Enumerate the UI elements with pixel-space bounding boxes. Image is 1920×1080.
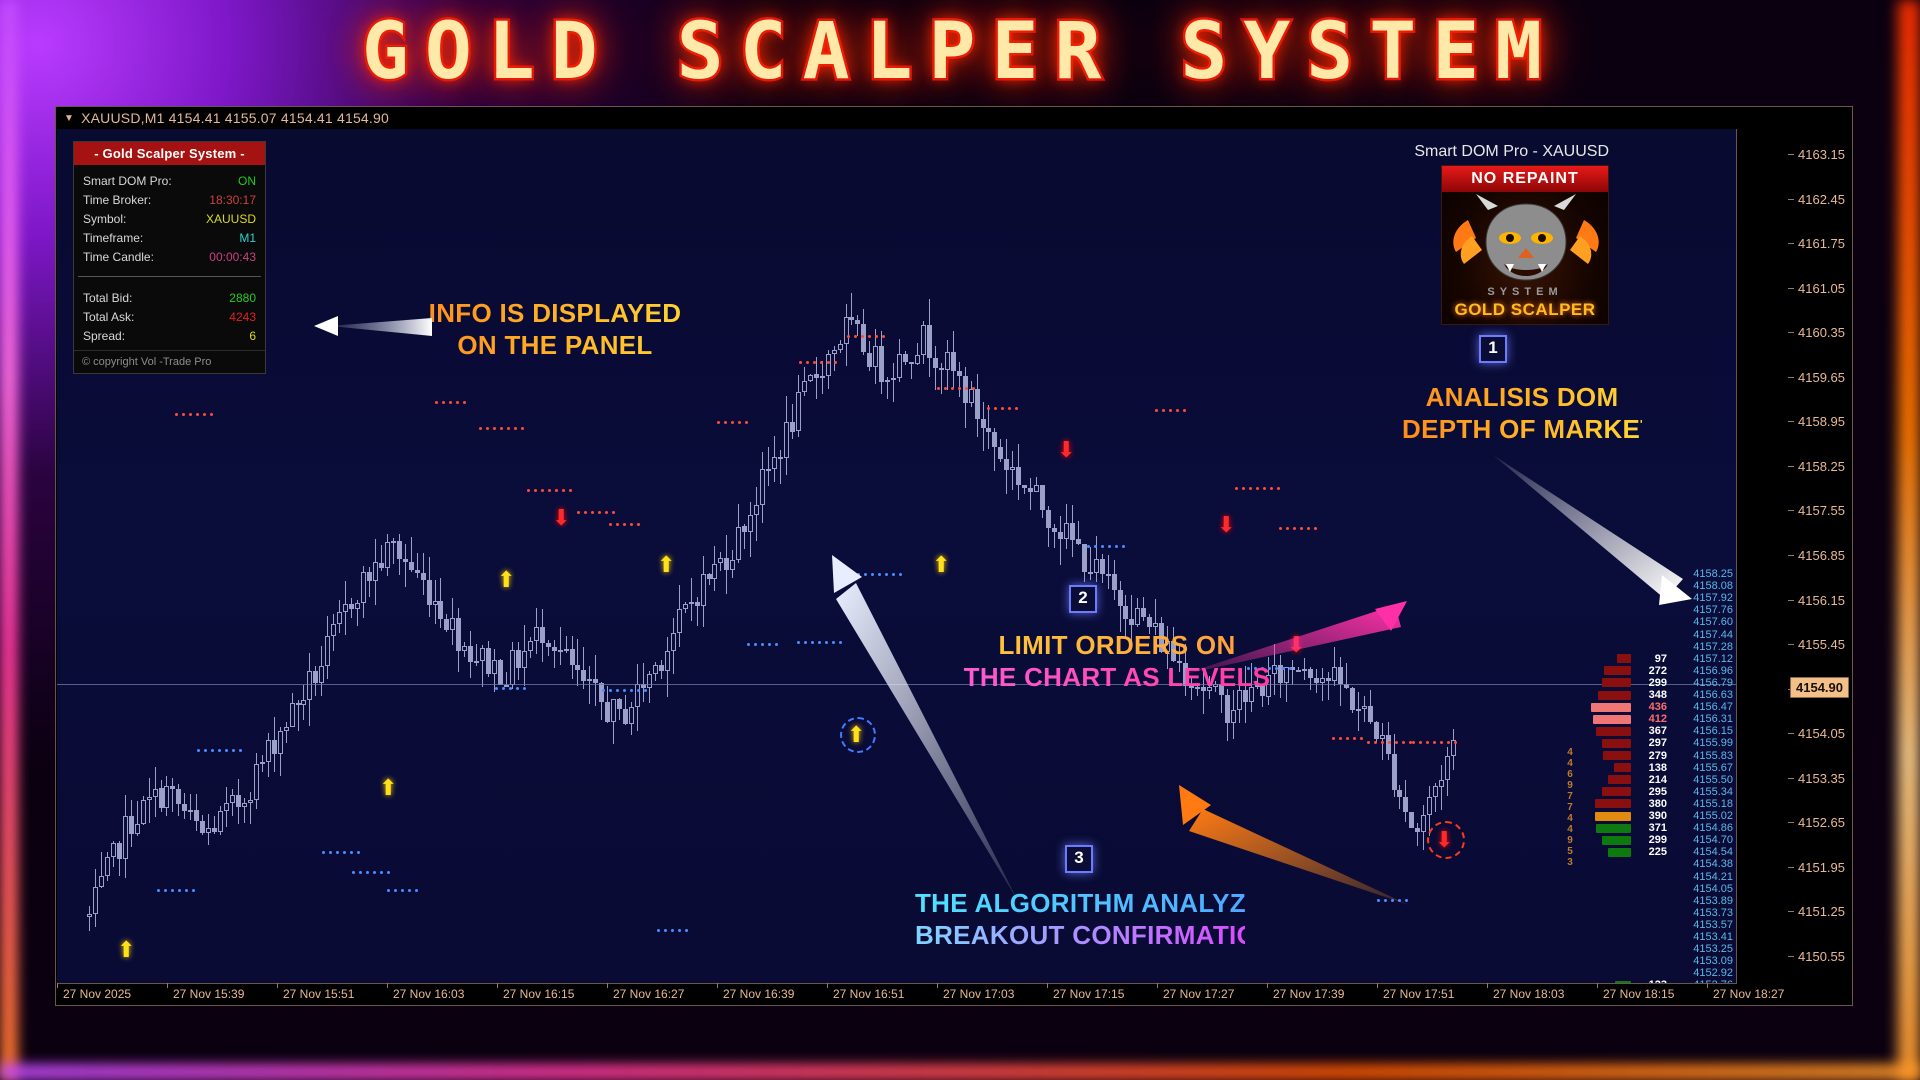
time-tick: 27 Nov 18:15 [1603, 987, 1674, 1001]
dom-volume-bar [1591, 703, 1631, 712]
candle [683, 602, 688, 613]
candle [129, 800, 134, 848]
price-tick: 4153.35 [1798, 771, 1845, 786]
candle [963, 367, 968, 429]
candle [665, 637, 670, 697]
ask-level-dot-cluster [175, 413, 217, 416]
price-tick: 4152.65 [1798, 815, 1845, 830]
gold-scalper-logo: NO REPAINT [1441, 165, 1609, 325]
dom-volume-bar [1602, 787, 1631, 796]
time-tick: 27 Nov 16:39 [723, 987, 794, 1001]
candle [147, 778, 152, 823]
dom-volume-bar [1598, 691, 1631, 700]
candle [111, 841, 116, 867]
price-tick: 4150.55 [1798, 949, 1845, 964]
candle [992, 428, 997, 470]
candle [1374, 721, 1379, 743]
candle [772, 436, 777, 482]
ask-level-dot-cluster [1412, 741, 1461, 744]
candle [468, 631, 473, 678]
dom-strip-digit: 4 [1563, 758, 1577, 769]
candle [718, 552, 723, 571]
candle [1058, 516, 1063, 565]
candle [450, 598, 455, 645]
candle [1040, 485, 1045, 518]
candle [909, 362, 914, 379]
logo-system-text: SYSTEM [1442, 286, 1608, 298]
time-tick: 27 Nov 16:15 [503, 987, 574, 1001]
candle [260, 755, 265, 772]
candle [1362, 696, 1367, 722]
chart-plot-area[interactable]: - Gold Scalper System - Smart DOM Pro:ON… [57, 129, 1737, 985]
candle [617, 698, 622, 720]
candle [337, 600, 342, 633]
candle [1421, 805, 1426, 851]
candle [272, 717, 277, 772]
buy-signal-arrow-icon: ⬆ [497, 569, 515, 591]
bid-level-dot-cluster [1087, 545, 1129, 548]
candle [867, 341, 872, 371]
candle [385, 534, 390, 577]
candle [1350, 687, 1355, 713]
candle [188, 794, 193, 820]
info-row-value: 18:30:17 [209, 191, 256, 210]
info-row-value: M1 [239, 229, 256, 248]
candle [1141, 597, 1146, 621]
dom-volume-bar [1596, 727, 1631, 736]
dom-volume-bar [1602, 678, 1631, 687]
price-tick: 4162.45 [1798, 192, 1845, 207]
candle [885, 377, 890, 399]
candle [570, 636, 575, 679]
info-row-key: Timeframe: [83, 229, 143, 248]
candle [170, 778, 175, 812]
ask-level-dot-cluster [527, 489, 576, 492]
annotation-dom: ANALISIS DOM DEPTH OF MARKET [1402, 381, 1642, 445]
dom-volume-bar [1595, 812, 1631, 821]
candle [558, 627, 563, 665]
candle [153, 767, 158, 817]
candle [534, 608, 539, 654]
candle [343, 581, 348, 635]
candle [826, 350, 831, 390]
candle [456, 608, 461, 673]
dom-strip-digit: 4 [1563, 747, 1577, 758]
dom-volume-bar [1602, 836, 1631, 845]
candle [1118, 581, 1123, 632]
candle [403, 544, 408, 586]
candle [498, 659, 503, 685]
dom-volume-bar [1603, 751, 1631, 760]
candle [986, 405, 991, 449]
price-tick: 4161.75 [1798, 236, 1845, 251]
price-tick: 4158.95 [1798, 414, 1845, 429]
candle [1010, 451, 1015, 491]
candle [1028, 478, 1033, 509]
buy-signal-arrow-icon: ⬆ [117, 939, 135, 961]
info-panel-divider [78, 276, 261, 277]
dom-strip-digit: 6 [1563, 769, 1577, 780]
time-tick: 27 Nov 17:39 [1273, 987, 1344, 1001]
arrow-to-info-panel [312, 314, 432, 344]
info-total-key: Total Bid: [83, 289, 132, 308]
sell-signal-arrow-icon: ⬇ [552, 507, 570, 529]
bid-level-dot-cluster [197, 749, 246, 752]
dom-volume-bar [1614, 763, 1631, 772]
time-tick: 27 Nov 2025 [63, 987, 131, 1001]
sell-signal-arrow-icon: ⬇ [1217, 514, 1235, 536]
ask-level-dot-cluster [435, 401, 470, 404]
candle [444, 614, 449, 632]
price-tick: 4163.15 [1798, 147, 1845, 162]
step-badge-1: 1 [1479, 335, 1507, 363]
candle [546, 640, 551, 656]
candle [891, 363, 896, 403]
candle [903, 351, 908, 365]
info-row-key: Time Broker: [83, 191, 151, 210]
ask-level-dot-cluster [1279, 527, 1321, 530]
candle [87, 906, 92, 931]
candle [528, 637, 533, 658]
price-tick: 4159.65 [1798, 370, 1845, 385]
candle [331, 614, 336, 651]
candle [1451, 729, 1456, 770]
candle [575, 639, 580, 686]
sell-signal-arrow-icon: ⬇ [1057, 439, 1075, 461]
annotation-info-panel: INFO IS DISPLAYED ON THE PANEL [415, 297, 695, 361]
candle [1225, 689, 1230, 741]
no-repaint-badge: NO REPAINT [1442, 166, 1608, 192]
candle [242, 798, 247, 822]
candle [290, 693, 295, 727]
candle [724, 535, 729, 594]
candle [736, 504, 741, 563]
candle [105, 852, 110, 881]
neon-edge-right [1898, 0, 1920, 1080]
candle [635, 664, 640, 732]
candle [415, 553, 420, 577]
time-tick: 27 Nov 16:27 [613, 987, 684, 1001]
dom-volume-bar [1608, 848, 1632, 857]
candle [879, 331, 884, 395]
ask-level-dot-cluster [937, 387, 979, 390]
bid-level-dot-cluster [352, 871, 394, 874]
step-badge-3: 3 [1065, 845, 1093, 873]
ask-level-dot-cluster [717, 421, 752, 424]
dom-volume-bar [1604, 666, 1631, 675]
buy-signal-arrow-icon: ⬆ [379, 777, 397, 799]
banner-title: GOLD SCALPER SYSTEM [362, 7, 1558, 97]
candle [653, 662, 658, 681]
info-panel-totals: Total Bid:2880Total Ask:4243Spread:6 [74, 282, 265, 350]
candle [849, 293, 854, 325]
candle [998, 439, 1003, 463]
candle [480, 645, 485, 687]
candle [236, 779, 241, 825]
candle [361, 566, 366, 618]
bid-level-dot-cluster [322, 851, 364, 854]
candle [540, 609, 545, 663]
candle [611, 699, 616, 744]
candle [1433, 783, 1438, 812]
info-row-row: Symbol:XAUUSD [83, 210, 256, 229]
info-row-row: Smart DOM Pro:ON [83, 172, 256, 191]
time-tick: 27 Nov 17:27 [1163, 987, 1234, 1001]
candle [200, 815, 205, 835]
info-row-value: ON [238, 172, 256, 191]
candle [397, 534, 402, 575]
candle [564, 636, 569, 653]
candle [712, 546, 717, 591]
ask-level-dot-cluster [609, 523, 644, 526]
price-tick: 4154.05 [1798, 726, 1845, 741]
candle [1082, 544, 1087, 583]
candle [212, 816, 217, 834]
chart-window: ▼ XAUUSD,M1 4154.41 4155.07 4154.41 4154… [55, 106, 1853, 1006]
candle [522, 625, 527, 686]
info-panel-title: - Gold Scalper System - [74, 142, 265, 165]
buy-signal-arrow-icon: ⬆ [657, 554, 675, 576]
candle [933, 346, 938, 390]
dom-strip-digit: 4 [1563, 824, 1577, 835]
info-total-value: 2880 [229, 289, 256, 308]
annotation-breakout-line2: BREAKOUT CONFIRMATION [915, 919, 1245, 951]
info-total-value: 6 [249, 327, 256, 346]
candle [296, 700, 301, 731]
candle [1016, 444, 1021, 499]
candle [1004, 439, 1009, 493]
bid-level-dot-cluster [157, 889, 199, 892]
price-tick: 4151.25 [1798, 904, 1845, 919]
info-panel-rows: Smart DOM Pro:ONTime Broker:18:30:17Symb… [74, 165, 265, 271]
candle [117, 841, 122, 877]
candle [313, 666, 318, 696]
candle [1070, 505, 1075, 557]
candle [182, 793, 187, 818]
candle [951, 331, 956, 389]
candle [391, 538, 396, 564]
candle [474, 644, 479, 666]
candle [1022, 485, 1027, 494]
chevron-down-icon[interactable]: ▼ [64, 113, 74, 124]
candle [707, 573, 712, 584]
candle [123, 795, 128, 878]
current-price-tag: 4154.90 [1790, 677, 1849, 698]
candle [254, 753, 259, 809]
info-total-row: Total Ask:4243 [83, 308, 256, 327]
candle [1094, 536, 1099, 583]
candle [647, 671, 652, 703]
candle [599, 682, 604, 720]
candle [307, 653, 312, 726]
candle [742, 524, 747, 550]
price-tick: 4156.15 [1798, 593, 1845, 608]
dom-volume-strip: 44697744953 [1563, 747, 1577, 868]
screenshot-root: GOLD SCALPER SYSTEM ▼ XAUUSD,M1 4154.41 … [0, 0, 1920, 1080]
candle [218, 806, 223, 835]
info-total-key: Spread: [83, 327, 125, 346]
info-total-key: Total Ask: [83, 308, 134, 327]
candle [284, 722, 289, 744]
dom-volume-bar [1595, 799, 1631, 808]
arrow-to-limit-levels [1177, 599, 1407, 679]
time-axis[interactable]: 27 Nov 202527 Nov 15:3927 Nov 15:5127 No… [57, 983, 1737, 1004]
candle [820, 361, 825, 394]
price-tick: 4161.05 [1798, 281, 1845, 296]
chart-header-text: XAUUSD,M1 4154.41 4155.07 4154.41 4154.9… [81, 110, 389, 126]
price-tick: 4160.35 [1798, 325, 1845, 340]
ask-level-dot-cluster [1235, 487, 1284, 490]
candle [486, 641, 491, 677]
info-total-value: 4243 [229, 308, 256, 327]
bid-level-dot-cluster [657, 929, 692, 932]
gold-scalper-info-panel: - Gold Scalper System - Smart DOM Pro:ON… [73, 141, 266, 374]
step-badge-2: 2 [1069, 585, 1097, 613]
annotation-info-panel-line1: INFO IS DISPLAYED [415, 297, 695, 329]
dom-volume-bar [1593, 715, 1631, 724]
candle [790, 404, 795, 438]
time-tick: 27 Nov 17:03 [943, 987, 1014, 1001]
ask-level-dot-cluster [987, 407, 1022, 410]
candle [796, 375, 801, 436]
neon-edge-left [0, 0, 18, 1080]
time-tick: 27 Nov 15:39 [173, 987, 244, 1001]
dom-strip-digit: 5 [1563, 846, 1577, 857]
candle [1439, 765, 1444, 810]
info-total-row: Spread:6 [83, 327, 256, 346]
info-row-key: Time Candle: [83, 248, 154, 267]
info-row-key: Symbol: [83, 210, 126, 229]
info-row-row: Time Broker:18:30:17 [83, 191, 256, 210]
candle [301, 685, 306, 720]
candle [492, 649, 497, 692]
candle [1356, 692, 1361, 731]
candle [623, 695, 628, 725]
candle [754, 487, 759, 541]
annotation-info-panel-line2: ON THE PANEL [415, 329, 695, 361]
candle [861, 309, 866, 355]
dom-strip-digit: 3 [1563, 857, 1577, 868]
candle [1076, 521, 1081, 546]
ask-level-dot-cluster [1155, 409, 1190, 412]
candle [778, 450, 783, 485]
candle [760, 452, 765, 522]
candle [99, 852, 104, 889]
candle [141, 796, 146, 825]
ask-level-dot-cluster [847, 335, 889, 338]
candle [629, 702, 634, 735]
dom-strip-digit: 7 [1563, 791, 1577, 802]
candle [671, 618, 676, 675]
time-tick: 27 Nov 16:03 [393, 987, 464, 1001]
candle [278, 727, 283, 776]
candle [1088, 547, 1093, 580]
candle [689, 578, 694, 622]
price-axis[interactable]: 4163.154162.454161.754161.054160.354159.… [1736, 129, 1851, 985]
arrow-to-dom [1487, 449, 1702, 609]
price-tick: 4156.85 [1798, 548, 1845, 563]
annotation-dom-line2: DEPTH OF MARKET [1402, 413, 1642, 445]
ask-level-dot-cluster [479, 427, 528, 430]
candle [838, 340, 843, 353]
chart-header: ▼ XAUUSD,M1 4154.41 4155.07 4154.41 4154… [56, 107, 1852, 129]
info-row-value: 00:00:43 [209, 248, 256, 267]
candle [748, 502, 753, 557]
dom-strip-digit: 4 [1563, 813, 1577, 824]
time-tick: 27 Nov 18:03 [1493, 987, 1564, 1001]
candle [409, 537, 414, 573]
candle [266, 733, 271, 777]
candle [224, 787, 229, 827]
candle [1112, 560, 1117, 600]
bid-level-dot-cluster [602, 689, 651, 692]
candle [1034, 477, 1039, 492]
dom-volume-bar [1602, 739, 1631, 748]
sell-signal-highlight-circle [1427, 821, 1465, 859]
info-row-row: Time Candle:00:00:43 [83, 248, 256, 267]
candle [194, 794, 199, 831]
price-tick: 4151.95 [1798, 860, 1845, 875]
candle [427, 557, 432, 618]
candle [581, 647, 586, 689]
candle [164, 776, 169, 816]
price-tick: 4157.55 [1798, 503, 1845, 518]
dom-volume-bar [1596, 824, 1631, 833]
candle [915, 343, 920, 365]
bid-level-dot-cluster [387, 889, 422, 892]
candle [135, 801, 140, 836]
candle [945, 340, 950, 390]
ask-level-dot-cluster [1332, 737, 1367, 740]
arrow-to-breakout-candle [1177, 779, 1417, 909]
candle [957, 362, 962, 397]
dom-strip-digit: 9 [1563, 780, 1577, 791]
candle [695, 597, 700, 626]
candle [159, 780, 164, 812]
candle [975, 374, 980, 437]
candle [659, 660, 664, 679]
time-tick: 27 Nov 15:51 [283, 987, 354, 1001]
dom-volume-bar [1608, 775, 1631, 784]
candle [1445, 747, 1450, 797]
dom-strip-digit: 7 [1563, 802, 1577, 813]
info-row-key: Smart DOM Pro: [83, 172, 172, 191]
candle [1106, 555, 1111, 589]
candle [1135, 598, 1140, 627]
bid-level-dot-cluster [747, 643, 782, 646]
candle [433, 580, 438, 625]
candle [593, 655, 598, 706]
candle [784, 396, 789, 476]
bid-level-dot-cluster [495, 687, 530, 690]
ask-level-dot-cluster [799, 361, 841, 364]
candle [93, 869, 98, 927]
candle [1064, 504, 1069, 549]
candle [1052, 524, 1057, 548]
candle [230, 789, 235, 816]
candle [1368, 690, 1373, 724]
candle [367, 567, 372, 597]
dom-volume-bar [1617, 654, 1631, 663]
info-row-row: Timeframe:M1 [83, 229, 256, 248]
logo-gold-scalper-text: GOLD SCALPER [1442, 300, 1608, 320]
candle [516, 642, 521, 680]
candle [355, 600, 360, 627]
candle [373, 539, 378, 605]
info-panel-copyright: © copyright Vol -Trade Pro [74, 350, 265, 373]
candle [808, 374, 813, 382]
time-tick: 27 Nov 17:51 [1383, 987, 1454, 1001]
